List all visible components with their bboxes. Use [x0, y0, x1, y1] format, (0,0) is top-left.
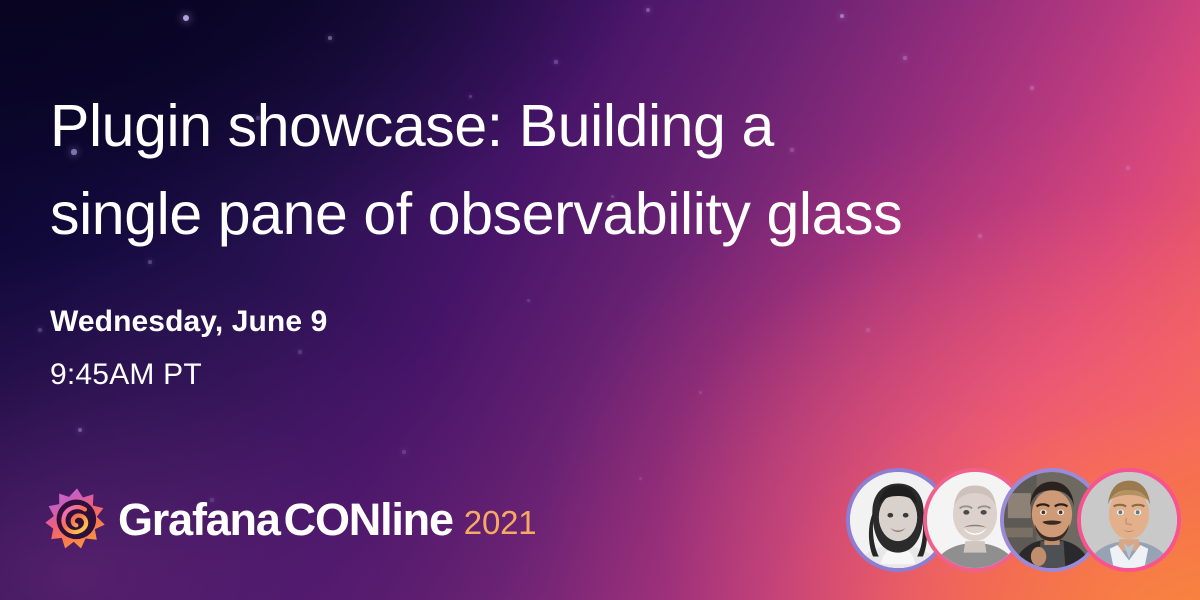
- speaker-portrait-4: [1081, 472, 1177, 568]
- session-time: 9:45AM PT: [50, 358, 202, 392]
- grafanaconline-logo-lockup: Grafana CONline 2021: [44, 487, 536, 553]
- session-date: Wednesday, June 9: [50, 305, 327, 339]
- grafana-logo-icon: [44, 487, 110, 553]
- grafanaconline-session-banner: Plugin showcase: Building a single pane …: [0, 0, 1200, 600]
- logo-event-text: CONline: [284, 494, 453, 546]
- logo-brand-text: Grafana: [118, 494, 280, 546]
- logo-year-text: 2021: [464, 504, 537, 542]
- session-title: Plugin showcase: Building a single pane …: [50, 82, 1130, 258]
- logo-wordmark: Grafana CONline 2021: [118, 494, 536, 546]
- banner-content: Plugin showcase: Building a single pane …: [0, 0, 1200, 600]
- speaker-avatar-4: [1077, 468, 1181, 572]
